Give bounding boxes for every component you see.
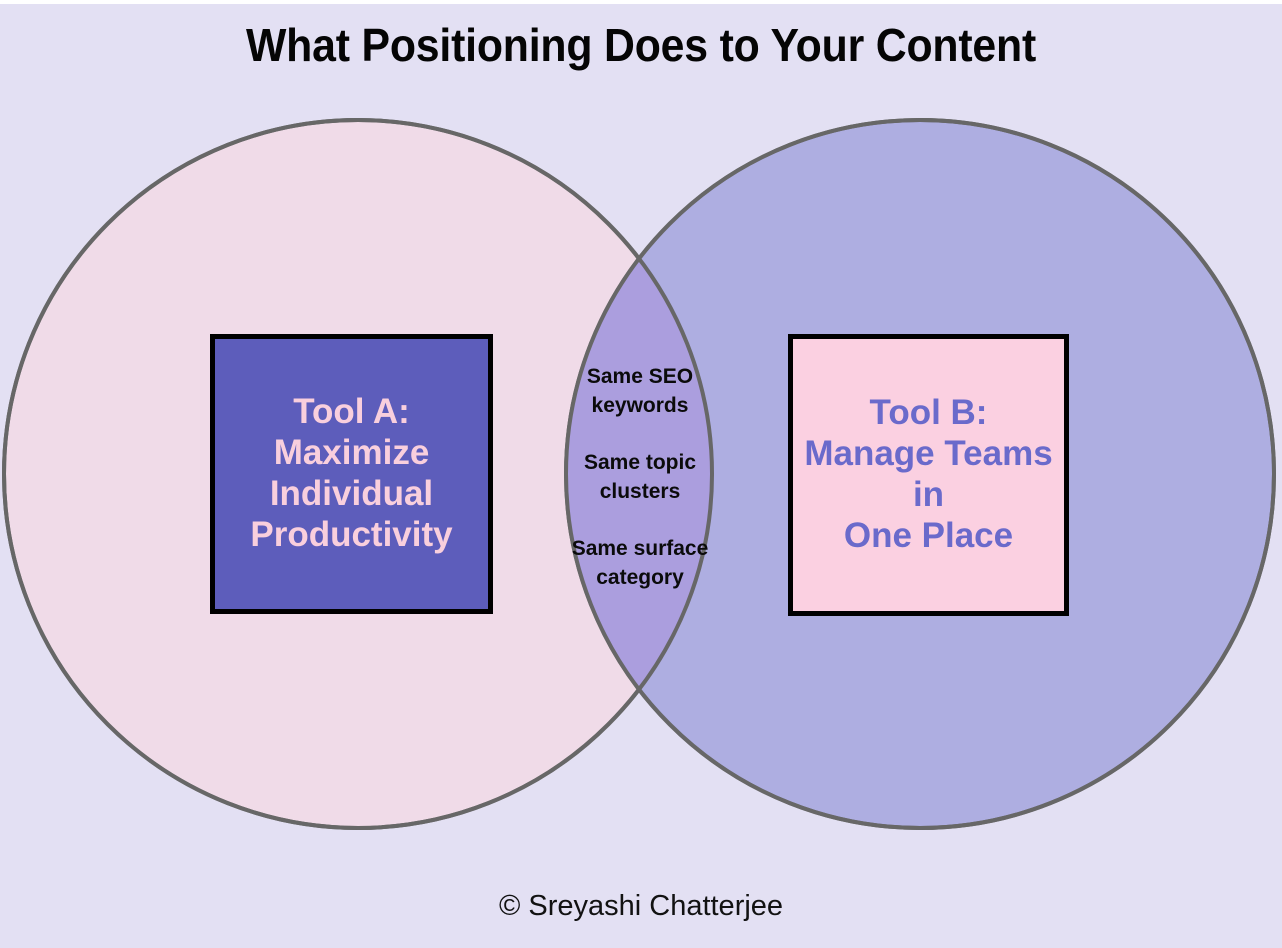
overlap-label-topic-clusters: Same topic clusters (555, 449, 725, 507)
tool-b-label: Tool B: Manage Teams in One Place (793, 393, 1064, 557)
diagram-canvas: What Positioning Does to Your Content To… (0, 0, 1282, 948)
overlap-label-seo-keywords: Same SEO keywords (555, 363, 725, 421)
overlap-label-surface-category: Same surface category (555, 535, 725, 593)
tool-a-label: Tool A: Maximize Individual Productivity (215, 392, 488, 556)
tool-b-box: Tool B: Manage Teams in One Place (788, 334, 1069, 616)
credit-line: © Sreyashi Chatterjee (0, 890, 1282, 923)
tool-a-box: Tool A: Maximize Individual Productivity (210, 334, 493, 614)
